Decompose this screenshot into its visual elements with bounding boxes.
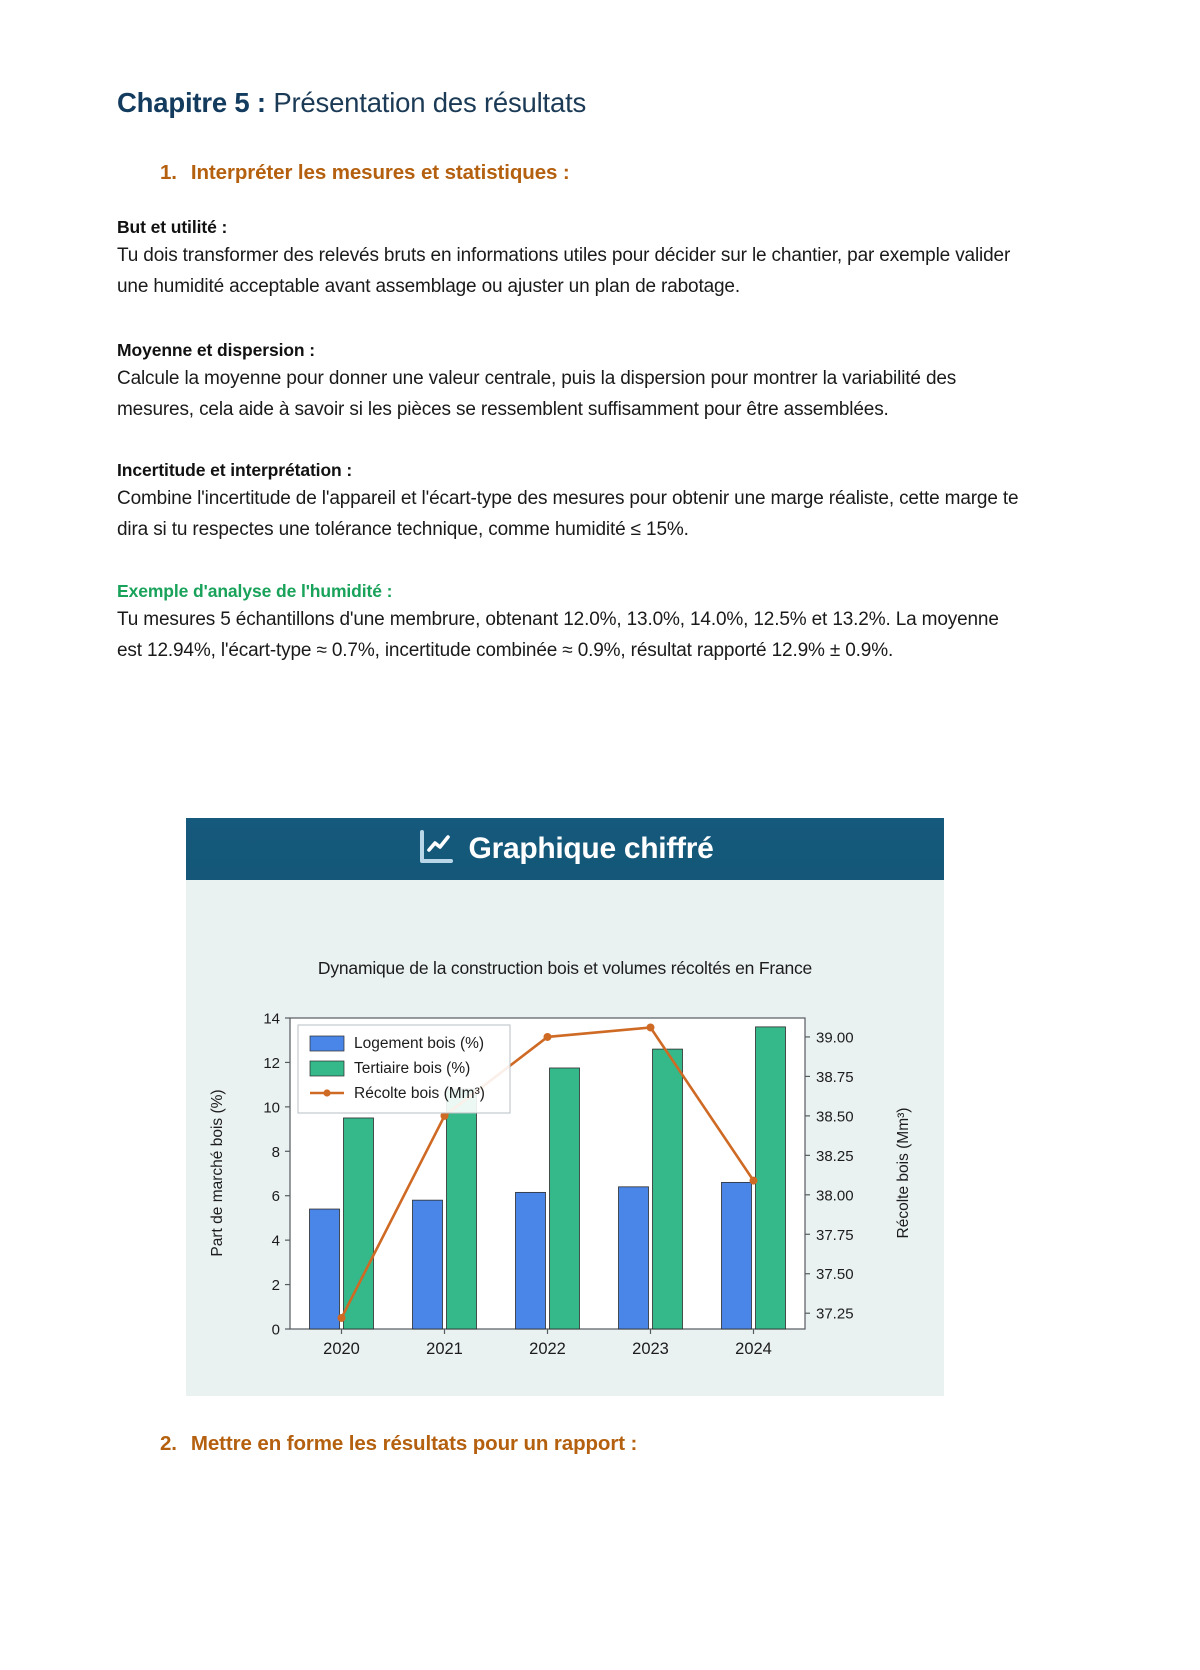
section-title-2: Mettre en forme les résultats pour un ra… bbox=[191, 1432, 637, 1456]
chart-line-marker bbox=[338, 1314, 346, 1322]
y-tick-right: 37.25 bbox=[816, 1306, 854, 1323]
y-tick-right: 37.75 bbox=[816, 1227, 854, 1244]
chart-bar bbox=[722, 1182, 752, 1329]
y-tick-right: 38.00 bbox=[816, 1187, 854, 1204]
x-tick-label: 2020 bbox=[323, 1340, 360, 1358]
y-tick-left: 4 bbox=[272, 1233, 280, 1250]
chart-bar bbox=[516, 1192, 546, 1329]
section-heading-1: 1. Interpréter les mesures et statistiqu… bbox=[160, 161, 1022, 185]
section-heading-2: 2. Mettre en forme les résultats pour un… bbox=[160, 1432, 637, 1456]
y-tick-left: 10 bbox=[263, 1099, 280, 1116]
chart-line-marker bbox=[544, 1033, 552, 1041]
legend-swatch bbox=[310, 1036, 344, 1051]
chart-bar bbox=[653, 1049, 683, 1329]
lede-incertitude: Incertitude et interprétation : bbox=[117, 457, 1022, 484]
y-axis-label-left: Part de marché bois (%) bbox=[209, 1089, 226, 1256]
legend-label: Récolte bois (Mm³) bbox=[354, 1085, 485, 1102]
chart-card-header: Graphique chiffré bbox=[186, 818, 944, 880]
page-title: Chapitre 5 : Présentation des résultats bbox=[117, 86, 1022, 119]
chart-line-marker bbox=[647, 1023, 655, 1031]
y-tick-left: 12 bbox=[263, 1055, 280, 1072]
y-tick-left: 6 bbox=[272, 1188, 280, 1205]
chart-card-title: Graphique chiffré bbox=[469, 832, 714, 866]
legend-label: Tertiaire bois (%) bbox=[354, 1060, 470, 1077]
y-tick-right: 37.50 bbox=[816, 1266, 854, 1283]
legend-swatch bbox=[310, 1061, 344, 1076]
legend-marker bbox=[323, 1089, 330, 1096]
y-tick-left: 2 bbox=[272, 1277, 280, 1294]
chart-bar bbox=[550, 1068, 580, 1329]
chart-bar bbox=[344, 1118, 374, 1329]
x-tick-label: 2021 bbox=[426, 1340, 463, 1358]
chart-bar bbox=[619, 1187, 649, 1329]
paragraph-moyenne-dispersion: Calcule la moyenne pour donner une valeu… bbox=[117, 364, 1022, 426]
document-content: Chapitre 5 : Présentation des résultats … bbox=[117, 0, 1022, 667]
lede-moyenne-dispersion: Moyenne et dispersion : bbox=[117, 337, 1022, 364]
line-chart-icon bbox=[417, 828, 455, 871]
x-tick-label: 2023 bbox=[632, 1340, 669, 1358]
paragraph-exemple-humidite: Tu mesures 5 échantillons d'une membrure… bbox=[117, 605, 1022, 667]
chart-body: Dynamique de la construction bois et vol… bbox=[186, 880, 944, 1396]
block-incertitude: Incertitude et interprétation : Combine … bbox=[117, 457, 1022, 546]
chart-bar bbox=[447, 1089, 477, 1329]
legend-label: Logement bois (%) bbox=[354, 1035, 484, 1052]
chapter-title-strong: Chapitre 5 : bbox=[117, 87, 266, 118]
chart-card: Graphique chiffré Dynamique de la constr… bbox=[186, 818, 944, 1396]
chart-bar bbox=[413, 1200, 443, 1329]
block-exemple-humidite: Exemple d'analyse de l'humidité : Tu mes… bbox=[117, 578, 1022, 667]
x-tick-label: 2024 bbox=[735, 1340, 772, 1358]
paragraph-but-et-utilite: Tu dois transformer des relevés bruts en… bbox=[117, 241, 1022, 303]
y-axis-label-right: Récolte bois (Mm³) bbox=[895, 1108, 912, 1239]
chapter-title-rest: Présentation des résultats bbox=[266, 87, 586, 118]
chart-plot: 0246810121437.2537.5037.7538.0038.2538.5… bbox=[186, 880, 944, 1396]
document-page: Chapitre 5 : Présentation des résultats … bbox=[0, 0, 1200, 1670]
y-tick-right: 38.50 bbox=[816, 1108, 854, 1125]
block-but-et-utilite: But et utilité : Tu dois transformer des… bbox=[117, 214, 1022, 303]
block-moyenne-dispersion: Moyenne et dispersion : Calcule la moyen… bbox=[117, 337, 1022, 426]
x-tick-label: 2022 bbox=[529, 1340, 566, 1358]
y-tick-right: 38.25 bbox=[816, 1148, 854, 1165]
chart-bar bbox=[756, 1027, 786, 1329]
chart-bar bbox=[310, 1209, 340, 1329]
section-title-1: Interpréter les mesures et statistiques … bbox=[191, 161, 570, 185]
chart-line-marker bbox=[750, 1177, 758, 1185]
y-tick-right: 39.00 bbox=[816, 1029, 854, 1046]
y-tick-left: 14 bbox=[263, 1011, 280, 1028]
y-tick-right: 38.75 bbox=[816, 1069, 854, 1086]
y-tick-left: 8 bbox=[272, 1144, 280, 1161]
lede-but-et-utilite: But et utilité : bbox=[117, 214, 1022, 241]
y-tick-left: 0 bbox=[272, 1322, 280, 1339]
paragraph-incertitude: Combine l'incertitude de l'appareil et l… bbox=[117, 484, 1022, 546]
section-number-1: 1. bbox=[160, 161, 177, 185]
lede-exemple-humidite: Exemple d'analyse de l'humidité : bbox=[117, 578, 1022, 605]
section-number-2: 2. bbox=[160, 1432, 177, 1456]
